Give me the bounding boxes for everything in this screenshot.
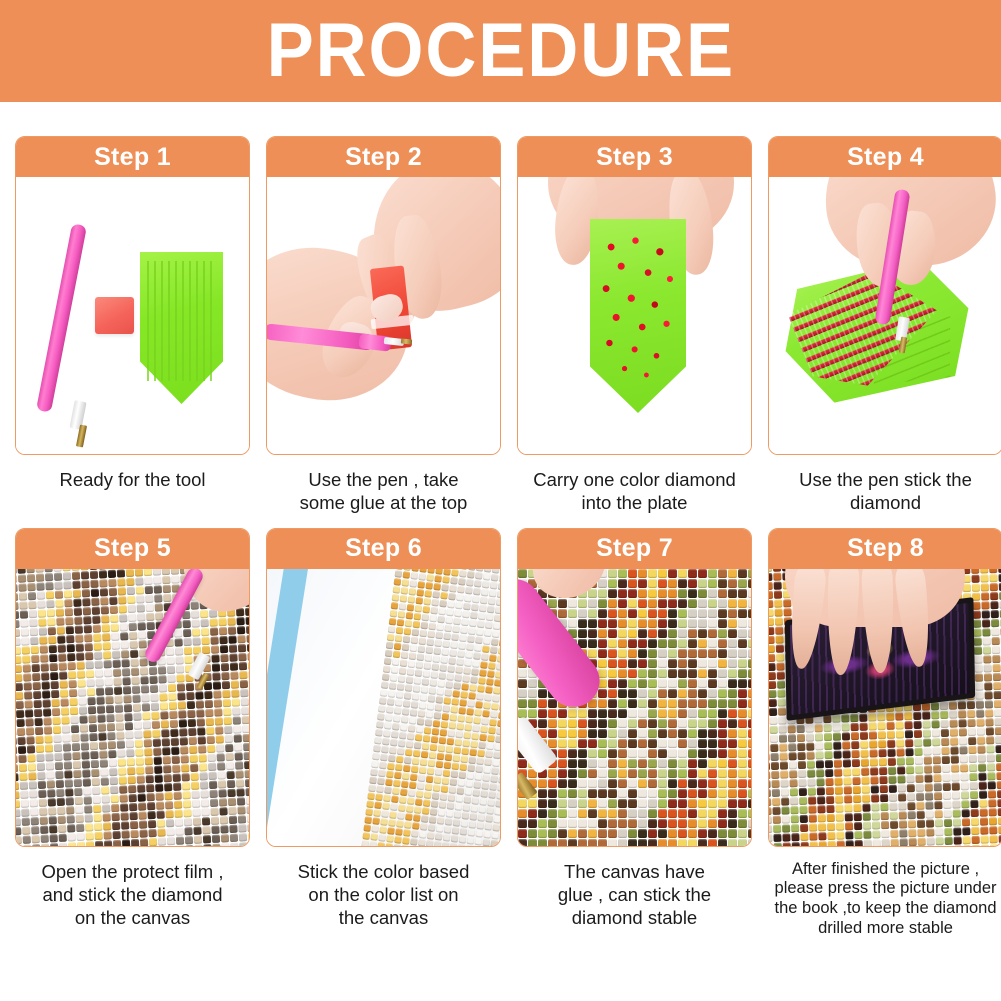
step-header-6: Step 6 <box>267 529 500 569</box>
caption-line: diamond stable <box>521 906 748 929</box>
caption-line: into the plate <box>521 491 748 514</box>
caption-line: Stick the color based <box>270 860 497 883</box>
step-image-2 <box>267 177 500 454</box>
step-image-4 <box>769 177 1001 454</box>
caption-line: Carry one color diamond <box>521 468 748 491</box>
step-header-2: Step 2 <box>267 137 500 177</box>
caption-line: Use the pen , take <box>270 468 497 491</box>
step-cell-1: Step 1 Ready for the tool <box>15 136 250 515</box>
tray-with-diamonds-illustration <box>518 177 751 454</box>
canvas-mosaic-illustration <box>16 569 249 846</box>
step-caption-5: Open the protect film , and stick the di… <box>15 860 250 930</box>
caption-line: Use the pen stick the <box>772 468 999 491</box>
step-card-3: Step 3 <box>517 136 752 455</box>
step-image-7 <box>518 569 751 846</box>
step-header-label-8: Step 8 <box>847 536 924 561</box>
step-cell-4: Step 4 <box>768 136 1001 515</box>
step-card-7: Step 7 <box>517 528 752 847</box>
step-cell-5: Step 5 Open the protect film , <box>15 528 250 939</box>
step-caption-2: Use the pen , take some glue at the top <box>266 468 501 515</box>
step-cell-6: Step 6 Stick the color <box>266 528 501 939</box>
caption-line: some glue at the top <box>270 491 497 514</box>
pen-picking-diamond-illustration <box>769 177 1001 454</box>
step-caption-6: Stick the color based on the color list … <box>266 860 501 930</box>
step-header-1: Step 1 <box>16 137 249 177</box>
caption-line: the book ,to keep the diamond <box>768 899 1001 919</box>
red-diamonds-icon <box>596 231 680 391</box>
step-card-2: Step 2 <box>266 136 501 455</box>
tool-kit-illustration <box>16 177 249 454</box>
caption-line: on the color list on <box>270 883 497 906</box>
pink-pen-icon <box>36 223 87 412</box>
step-header-7: Step 7 <box>518 529 751 569</box>
step-header-label-3: Step 3 <box>596 145 673 170</box>
step-image-1 <box>16 177 249 454</box>
glue-square-icon <box>95 297 134 334</box>
step-header-8: Step 8 <box>769 529 1001 569</box>
pressing-book-illustration <box>769 569 1001 846</box>
step-header-label-2: Step 2 <box>345 145 422 170</box>
step-caption-3: Carry one color diamond into the plate <box>517 468 752 515</box>
diamond-mosaic-canvas <box>518 569 751 846</box>
step-cell-3: Step 3 Carry one color diamond <box>517 136 752 515</box>
steps-grid: Step 1 Ready for the tool <box>15 136 986 939</box>
step-card-1: Step 1 <box>15 136 250 455</box>
step-caption-1: Ready for the tool <box>15 468 250 491</box>
caption-line: Open the protect film , <box>19 860 246 883</box>
glue-dipping-illustration <box>267 177 500 454</box>
steps-row-2: Step 5 Open the protect film , <box>15 528 986 939</box>
step-caption-4: Use the pen stick the diamond <box>768 468 1001 515</box>
page-banner: PROCEDURE <box>0 0 1001 102</box>
caption-line: glue , can stick the <box>521 883 748 906</box>
step-card-6: Step 6 <box>266 528 501 847</box>
caption-line: The canvas have <box>521 860 748 883</box>
glued-canvas-illustration <box>518 569 751 846</box>
step-header-label-5: Step 5 <box>94 536 171 561</box>
step-image-5 <box>16 569 249 846</box>
step-header-label-1: Step 1 <box>94 145 171 170</box>
caption-line: on the canvas <box>19 906 246 929</box>
tray-ridges-icon <box>147 261 217 381</box>
step-cell-2: Step 2 <box>266 136 501 515</box>
caption-line: and stick the diamond <box>19 883 246 906</box>
step-cell-8: Step 8 <box>768 528 1001 939</box>
step-header-label-6: Step 6 <box>345 536 422 561</box>
caption-line: the canvas <box>270 906 497 929</box>
step-image-6 <box>267 569 500 846</box>
step-header-label-7: Step 7 <box>596 536 673 561</box>
step-header-label-4: Step 4 <box>847 145 924 170</box>
step-header-4: Step 4 <box>769 137 1001 177</box>
caption-line: diamond <box>772 491 999 514</box>
steps-row-1: Step 1 Ready for the tool <box>15 136 986 515</box>
caption-line: please press the picture under <box>768 879 1001 899</box>
step-card-8: Step 8 <box>768 528 1001 847</box>
caption-line: After finished the picture , <box>768 860 1001 880</box>
step-image-3 <box>518 177 751 454</box>
step-caption-8: After finished the picture , please pres… <box>768 860 1001 939</box>
step-header-5: Step 5 <box>16 529 249 569</box>
step-header-3: Step 3 <box>518 137 751 177</box>
step-image-8 <box>769 569 1001 846</box>
pen-nib-icon <box>401 338 412 344</box>
step-cell-7: Step 7 The canvas have glue <box>517 528 752 939</box>
step-card-5: Step 5 <box>15 528 250 847</box>
step-card-4: Step 4 <box>768 136 1001 455</box>
page-title: PROCEDURE <box>266 13 734 89</box>
caption-line: drilled more stable <box>768 919 1001 939</box>
step-caption-7: The canvas have glue , can stick the dia… <box>517 860 752 930</box>
procedure-infographic: PROCEDURE Step 1 <box>0 0 1001 1001</box>
color-chart-illustration <box>267 569 500 846</box>
